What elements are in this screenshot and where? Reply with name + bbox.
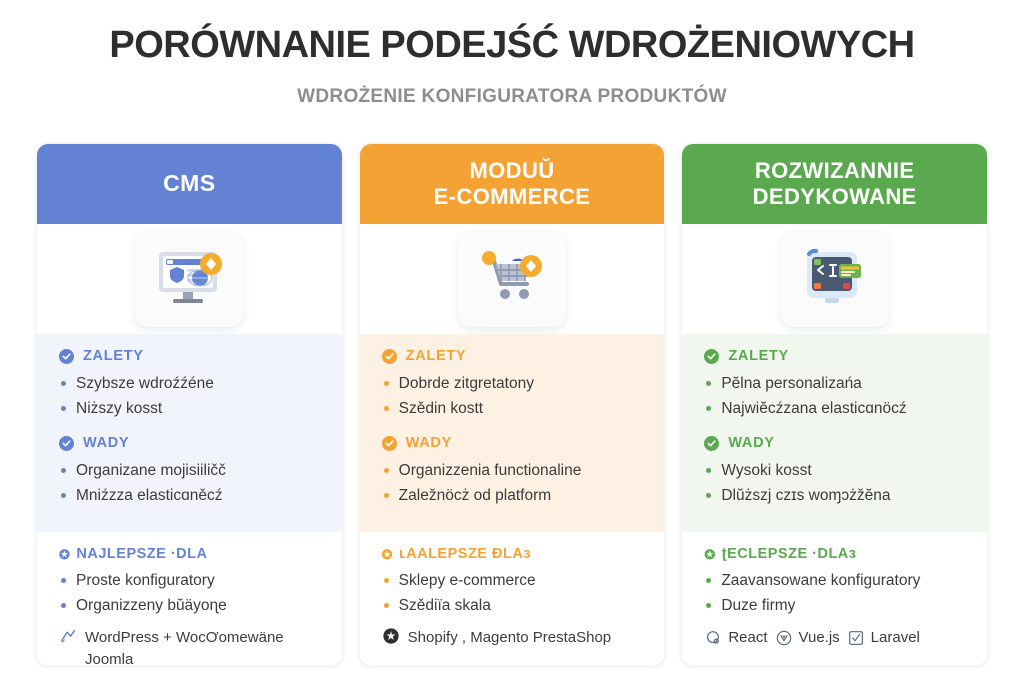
card-ecommerce-cons-header: WADY (382, 435, 643, 451)
list-item: Szědiïa skala (382, 593, 643, 618)
card-ecommerce-best-list: Sklepy e-commerce Szědiïa skala (382, 568, 643, 618)
star-icon: ✪ (704, 548, 715, 561)
card-dedicated-best-list: Zaavansowane konfiguratory Duze firmy (704, 568, 965, 618)
list-item: Szybsze wdroźźéne (59, 371, 320, 396)
list-item: Wysoki kosst (704, 458, 965, 483)
card-dedicated-illustration (682, 224, 987, 334)
list-item: Pĕlna personalizańa (704, 371, 965, 396)
tech-vuejs: Vue.js (775, 627, 840, 649)
card-cms-pros-label: ZALETY (83, 348, 144, 364)
card-dedicated-pros-list: Pĕlna personalizańa Najwiĕcźzana elastic… (704, 371, 965, 421)
card-cms-title: CMS (163, 170, 215, 197)
card-dedicated-footer: ✪ ʈECLEPSZE ·DLAɜ Zaavansowane konfigura… (682, 532, 987, 665)
list-item: Zaavansowane konfiguratory (704, 568, 965, 593)
card-dedicated-cons-header: WADY (704, 435, 965, 451)
card-ecommerce-tech-label: Shopify , Magento PrestaShop (408, 627, 611, 649)
tech-react-label: React (728, 627, 767, 649)
code-tablet-icon (797, 244, 873, 314)
wordpress-icon (59, 627, 77, 645)
check-circle-icon (704, 349, 719, 364)
card-cms-illustration (37, 224, 342, 334)
card-dedicated-header: ROZWIZANNIE DEDYKOWANE (682, 144, 987, 224)
star-icon: ✪ (382, 548, 393, 561)
check-circle-icon (59, 436, 74, 451)
check-circle-icon (59, 349, 74, 364)
list-item: Dobrde zitgretatony (382, 371, 643, 396)
card-dedicated-pros-header: ZALETY (704, 348, 965, 364)
card-cms-tech: WordPress + WocƠomewäne Joomla (59, 627, 320, 666)
card-ecommerce-tech: Shopify , Magento PrestaShop (382, 627, 643, 649)
list-item: Niższy kosst (59, 396, 320, 421)
vuejs-icon (775, 629, 793, 647)
card-ecommerce-pros-header: ZALETY (382, 348, 643, 364)
check-circle-icon (382, 436, 397, 451)
card-ecommerce-footer: ✪ ʟAALEPSZE ƉLAɜ Sklepy e-commerce Szědi… (360, 532, 665, 665)
check-circle-icon (382, 349, 397, 364)
card-cms-header: CMS (37, 144, 342, 224)
card-cms-tech-label: WordPress + WocƠomewäne Joomla (85, 627, 320, 666)
check-circle-icon (704, 436, 719, 451)
list-item: Organizane mojisiiličč (59, 458, 320, 483)
list-item: Najwiĕcźzana elasticɑnöcź (704, 396, 965, 421)
card-dedicated-pros-label: ZALETY (728, 348, 789, 364)
card-cms-footer: ✪ NAJLEPSZE ·DLA Proste konfiguratory Or… (37, 532, 342, 666)
card-ecommerce-pros-list: Dobrde zitgretatony Szědin kostt (382, 371, 643, 421)
card-dedicated-tech: React Vue.js (704, 627, 965, 649)
tech-laravel: Laravel (847, 627, 920, 649)
card-dedicated-title-line2: DEDYKOWANE (753, 184, 917, 209)
comparison-cards: CMS (36, 143, 988, 666)
card-ecommerce-header: MODUŬ E-COMMERCE (360, 144, 665, 224)
laravel-icon (847, 629, 865, 647)
card-ecommerce-best-header: ✪ ʟAALEPSZE ƉLAɜ (382, 546, 643, 562)
card-ecommerce-title-line1: MODUŬ (469, 158, 554, 183)
list-item: Dlŭższj czɪs woɱɔżžĕna (704, 483, 965, 508)
list-item: Proste konfiguratory (59, 568, 320, 593)
card-cms-best-label: NAJLEPSZE ·DLA (76, 546, 207, 562)
card-ecommerce-illustration (360, 224, 665, 334)
card-cms-pros-list: Szybsze wdroźźéne Niższy kosst (59, 371, 320, 421)
tech-react: React (704, 627, 767, 649)
card-dedicated-title-line1: ROZWIZANNIE (755, 158, 915, 183)
list-item: Szědin kostt (382, 396, 643, 421)
card-ecommerce[interactable]: MODUŬ E-COMMERCE (359, 143, 666, 666)
card-ecommerce-cons-list: Organizzenia functionaline Zaležnöcż od … (382, 458, 643, 508)
card-dedicated[interactable]: ROZWIZANNIE DEDYKOWANE (681, 143, 988, 666)
card-dedicated-title: ROZWIZANNIE DEDYKOWANE (753, 158, 917, 210)
card-cms[interactable]: CMS (36, 143, 343, 666)
shopify-icon (382, 627, 400, 645)
card-dedicated-best-header: ✪ ʈECLEPSZE ·DLAɜ (704, 546, 965, 562)
page-subtitle: WDROŻENIE KONFIGURATORA PRODUKTÓW (0, 86, 1024, 108)
list-item: Organizzeny bŭäyoɳe (59, 593, 320, 618)
card-ecommerce-panel: ZALETY Dobrde zitgretatony Szědin kostt … (360, 334, 665, 532)
comparison-infographic: PORÓWNANIE PODEJŚĆ WDROŻENIOWYCH WDROŻEN… (0, 0, 1024, 683)
react-icon (704, 629, 722, 647)
card-dedicated-cons-label: WADY (728, 435, 774, 451)
tech-laravel-label: Laravel (871, 627, 920, 649)
card-ecommerce-pros-label: ZALETY (406, 348, 467, 364)
card-cms-cons-list: Organizane mojisiiličč Mniźzza elasticɑn… (59, 458, 320, 508)
card-cms-panel: ZALETY Szybsze wdroźźéne Niższy kosst WA… (37, 334, 342, 532)
list-item: Organizzenia functionaline (382, 458, 643, 483)
star-icon: ✪ (59, 548, 70, 561)
card-dedicated-best-label: ʈECLEPSZE ·DLAɜ (722, 546, 857, 562)
card-ecommerce-title: MODUŬ E-COMMERCE (434, 158, 591, 210)
list-item: Mniźzza elasticɑněcź (59, 483, 320, 508)
card-ecommerce-cons-label: WADY (406, 435, 452, 451)
list-item: Duze firmy (704, 593, 965, 618)
list-item: Zaležnöcż od platform (382, 483, 643, 508)
desktop-monitor-icon (151, 244, 227, 314)
page-title: PORÓWNANIE PODEJŚĆ WDROŻENIOWYCH (0, 24, 1024, 67)
card-ecommerce-title-line2: E-COMMERCE (434, 184, 591, 209)
shopping-cart-icon (474, 244, 550, 314)
card-cms-cons-label: WADY (83, 435, 129, 451)
card-cms-pros-header: ZALETY (59, 348, 320, 364)
card-cms-best-header: ✪ NAJLEPSZE ·DLA (59, 546, 320, 562)
card-ecommerce-best-label: ʟAALEPSZE ƉLAɜ (399, 546, 531, 562)
card-dedicated-cons-list: Wysoki kosst Dlŭższj czɪs woɱɔżžĕna (704, 458, 965, 508)
card-cms-cons-header: WADY (59, 435, 320, 451)
card-dedicated-panel: ZALETY Pĕlna personalizańa Najwiĕcźzana … (682, 334, 987, 532)
list-item: Sklepy e-commerce (382, 568, 643, 593)
tech-vuejs-label: Vue.js (799, 627, 840, 649)
card-cms-best-list: Proste konfiguratory Organizzeny bŭäyoɳe (59, 568, 320, 618)
